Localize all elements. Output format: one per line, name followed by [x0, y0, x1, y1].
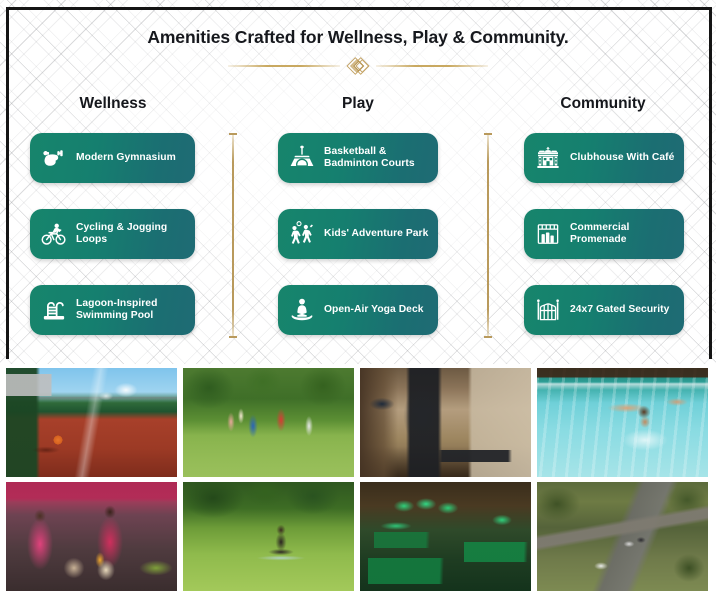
column-separator-1	[232, 133, 234, 338]
amenity-card-clubhouse-with-cafe[interactable]: Clubhouse With Café	[524, 133, 684, 183]
page-title: Amenities Crafted for Wellness, Play & C…	[0, 27, 716, 48]
amenity-card-label: Commercial Promenade	[570, 222, 675, 247]
slide-border-right	[709, 7, 712, 359]
amenities-photo-gallery: Basketball on outdoor sports court Child…	[0, 364, 716, 597]
separator-cap-top	[484, 133, 492, 135]
amenity-card-label: Clubhouse With Café	[570, 152, 674, 164]
bicycle-icon	[39, 219, 69, 249]
amenity-card-label: Lagoon-Inspired Swimming Pool	[76, 298, 186, 323]
amenity-card-kids-adventure-park[interactable]: Kids' Adventure Park	[278, 209, 438, 259]
amenity-card-open-air-yoga-deck[interactable]: Open-Air Yoga Deck	[278, 285, 438, 335]
pool-ladder-icon	[39, 295, 69, 325]
column-separator-2	[487, 133, 489, 338]
amenity-card-cycling-jogging-loops[interactable]: Cycling & Jogging Loops	[30, 209, 195, 259]
column-heading-community: Community	[528, 95, 678, 113]
amenities-slide: Amenities Crafted for Wellness, Play & C…	[0, 0, 716, 597]
dumbbell-muscle-icon	[39, 143, 69, 173]
column-heading-play: Play	[283, 95, 433, 113]
divider-line-right	[376, 65, 488, 67]
clubhouse-building-icon	[533, 143, 563, 173]
amenity-card-modern-gymnasium[interactable]: Modern Gymnasium	[30, 133, 195, 183]
separator-cap-bottom	[229, 336, 237, 338]
photo-outdoor-yoga: Woman meditating on lawn	[183, 482, 354, 591]
badminton-net-icon	[287, 143, 317, 173]
slide-border-left	[6, 7, 9, 359]
yoga-meditation-icon	[287, 295, 317, 325]
amenity-card-label: Basketball & Badminton Courts	[324, 146, 429, 171]
amenity-card-label: Modern Gymnasium	[76, 152, 176, 164]
ornamental-divider	[228, 56, 488, 76]
amenities-panel: Amenities Crafted for Wellness, Play & C…	[0, 0, 716, 364]
children-playing-icon	[287, 219, 317, 249]
amenity-card-label: Cycling & Jogging Loops	[76, 222, 186, 247]
amenity-card-commercial-promenade[interactable]: Commercial Promenade	[524, 209, 684, 259]
separator-cap-top	[229, 133, 237, 135]
photo-gated-entrance: Aerial view of gated entrance road	[537, 482, 708, 591]
amenity-card-basketball-badminton-courts[interactable]: Basketball & Badminton Courts	[278, 133, 438, 183]
photo-billiards-hall: Billiards hall with pool tables	[360, 482, 531, 591]
amenity-card-label: Open-Air Yoga Deck	[324, 304, 424, 316]
amenity-card-label: Kids' Adventure Park	[324, 228, 428, 240]
photo-basketball-court: Basketball on outdoor sports court	[6, 368, 177, 477]
amenity-card-swimming-pool[interactable]: Lagoon-Inspired Swimming Pool	[30, 285, 195, 335]
photo-children-running: Children running on lawn	[183, 368, 354, 477]
amenity-card-gated-security[interactable]: 24x7 Gated Security	[524, 285, 684, 335]
divider-line-left	[228, 65, 340, 67]
photo-swimming-pool: Boy swimming in pool	[537, 368, 708, 477]
storefront-shops-icon	[533, 219, 563, 249]
photo-gymnasium: Indoor gymnasium with equipment	[360, 368, 531, 477]
amenity-card-label: 24x7 Gated Security	[570, 304, 669, 316]
slide-border-top	[6, 7, 712, 10]
gate-security-icon	[533, 295, 563, 325]
photo-market-shopping: Women shopping at market promenade	[6, 482, 177, 591]
diamond-ornament-icon	[335, 56, 381, 76]
separator-cap-bottom	[484, 336, 492, 338]
column-heading-wellness: Wellness	[38, 95, 188, 113]
